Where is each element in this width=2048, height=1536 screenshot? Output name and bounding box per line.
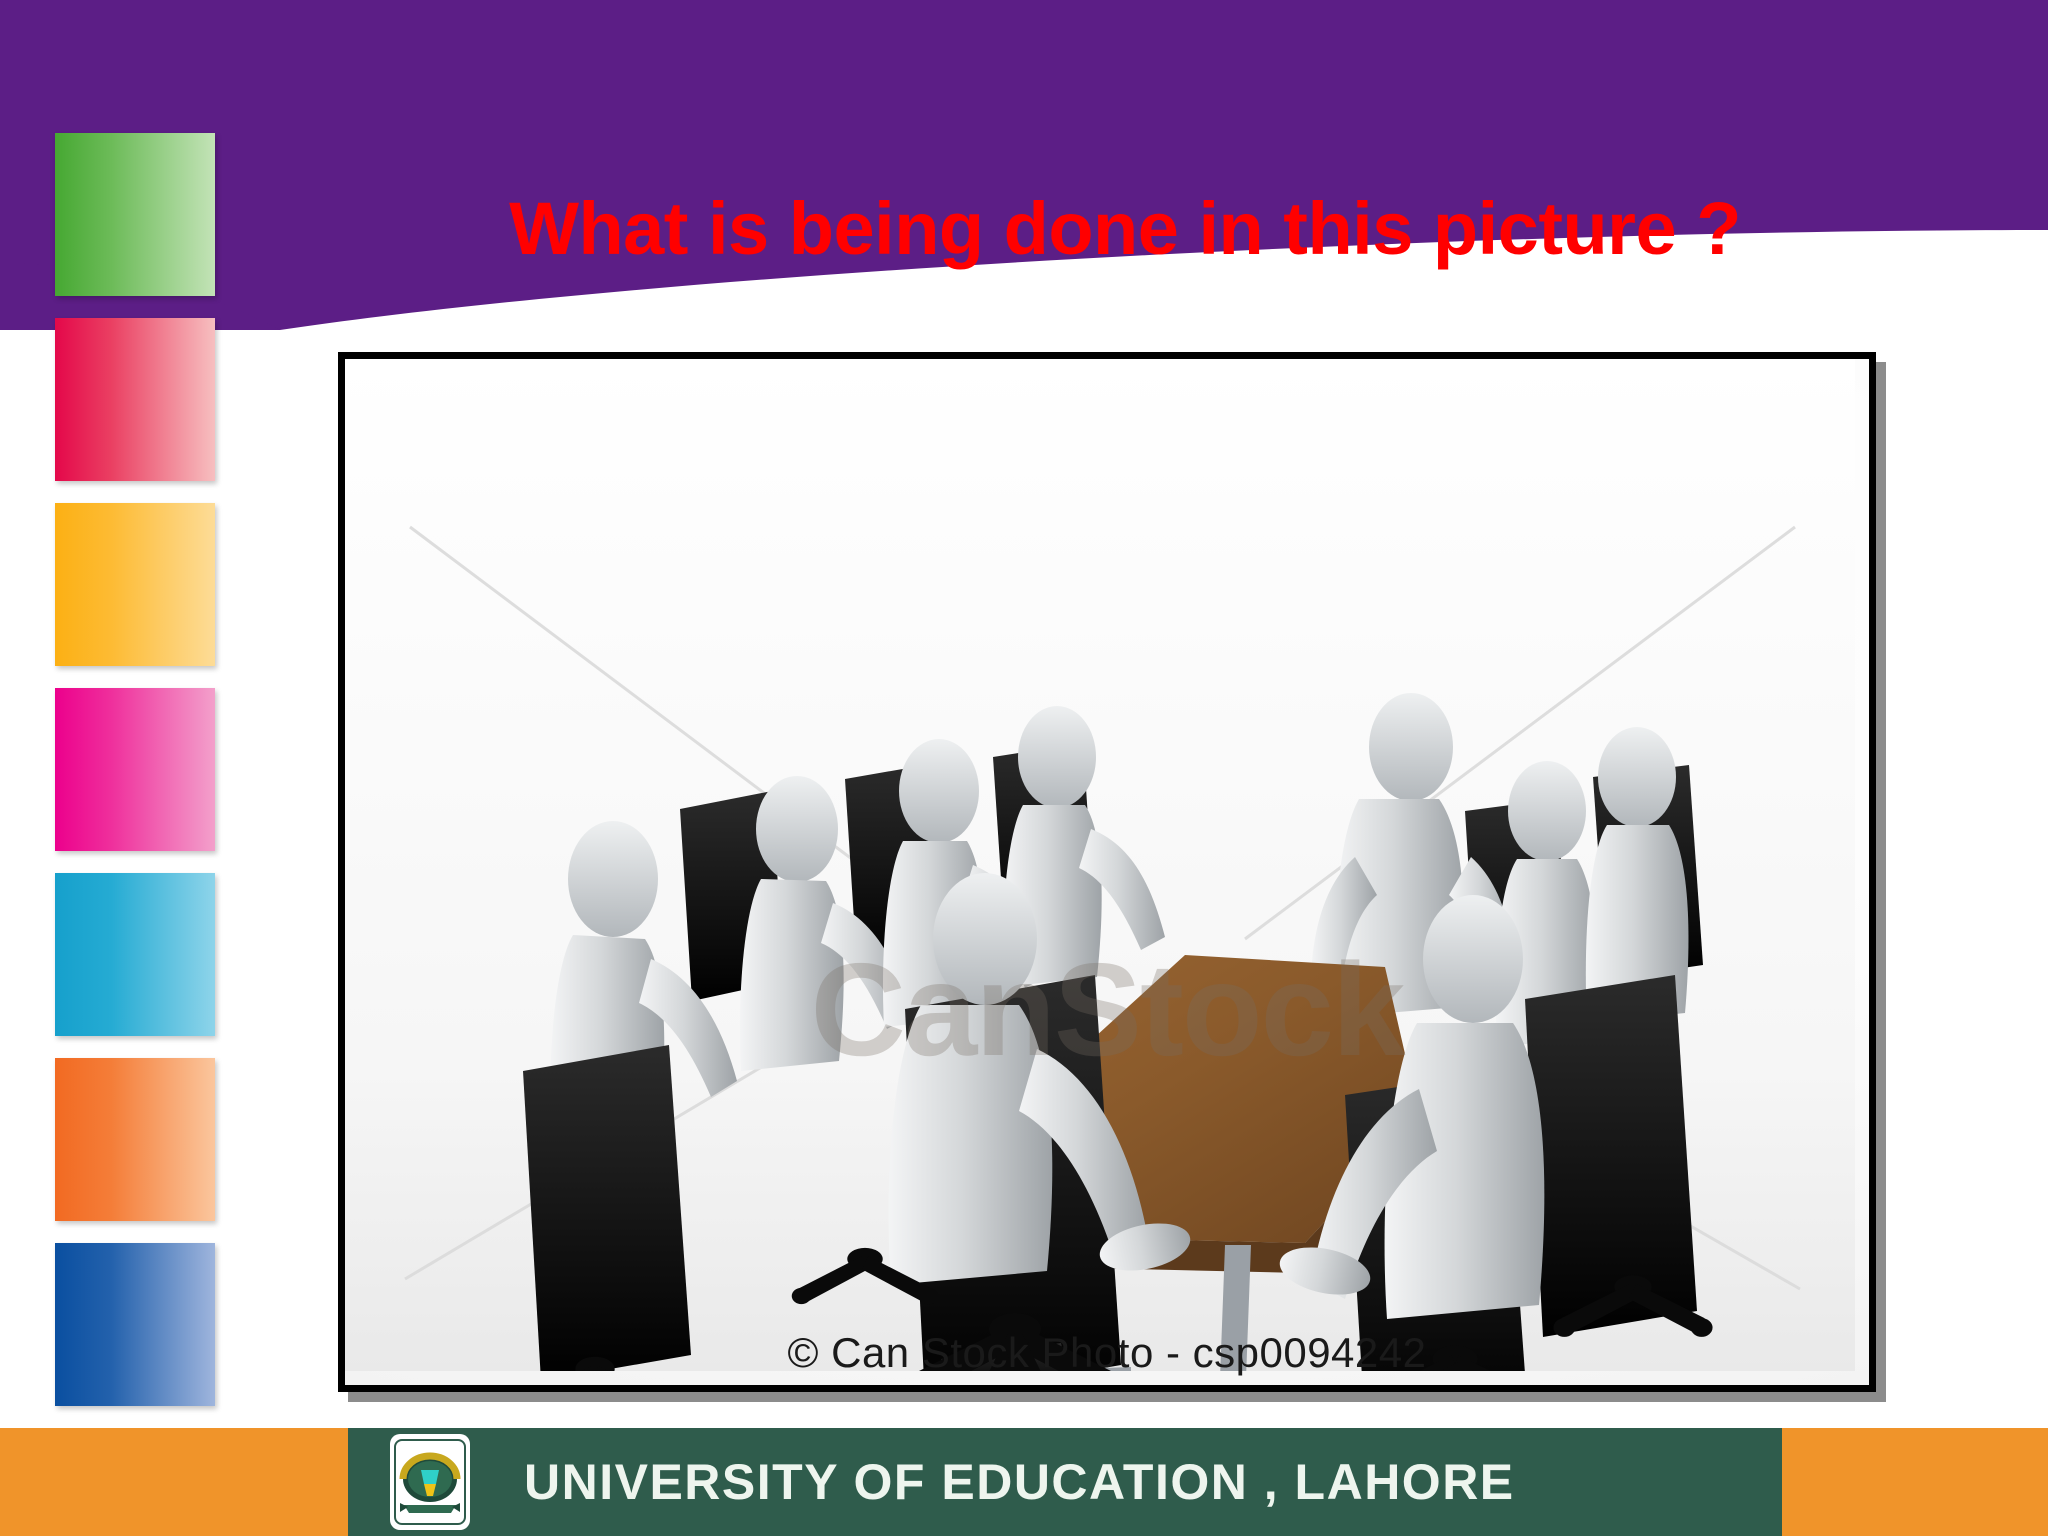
color-swatch-strip xyxy=(55,133,215,1428)
footer-title: UNIVERSITY OF EDUCATION , LAHORE xyxy=(524,1453,1515,1511)
swatch-orange xyxy=(55,1058,215,1221)
swatch-blue xyxy=(55,1243,215,1406)
footer-band: UNIVERSITY OF EDUCATION , LAHORE xyxy=(0,1428,2048,1536)
presentation-slide: What is being done in this picture ? xyxy=(0,0,2048,1536)
swatch-cyan xyxy=(55,873,215,1036)
footer-green-plate: UNIVERSITY OF EDUCATION , LAHORE xyxy=(348,1428,1782,1536)
page-title: What is being done in this picture ? xyxy=(245,190,2005,268)
swatch-green xyxy=(55,133,215,296)
university-crest-icon xyxy=(390,1434,470,1530)
swatch-magenta xyxy=(55,688,215,851)
header-band-shape xyxy=(0,0,2048,330)
university-crest-graphic xyxy=(394,1439,466,1525)
photo-caption: © Can Stock Photo - csp0094242 xyxy=(345,1329,1869,1377)
meeting-illustration-graphic xyxy=(345,359,1855,1371)
picture-frame: CanStock © Can Stock Photo - csp0094242 xyxy=(338,352,1876,1392)
header-band xyxy=(0,0,2048,330)
swatch-yellow xyxy=(55,503,215,666)
swatch-red xyxy=(55,318,215,481)
meeting-illustration: CanStock xyxy=(345,359,1869,1385)
